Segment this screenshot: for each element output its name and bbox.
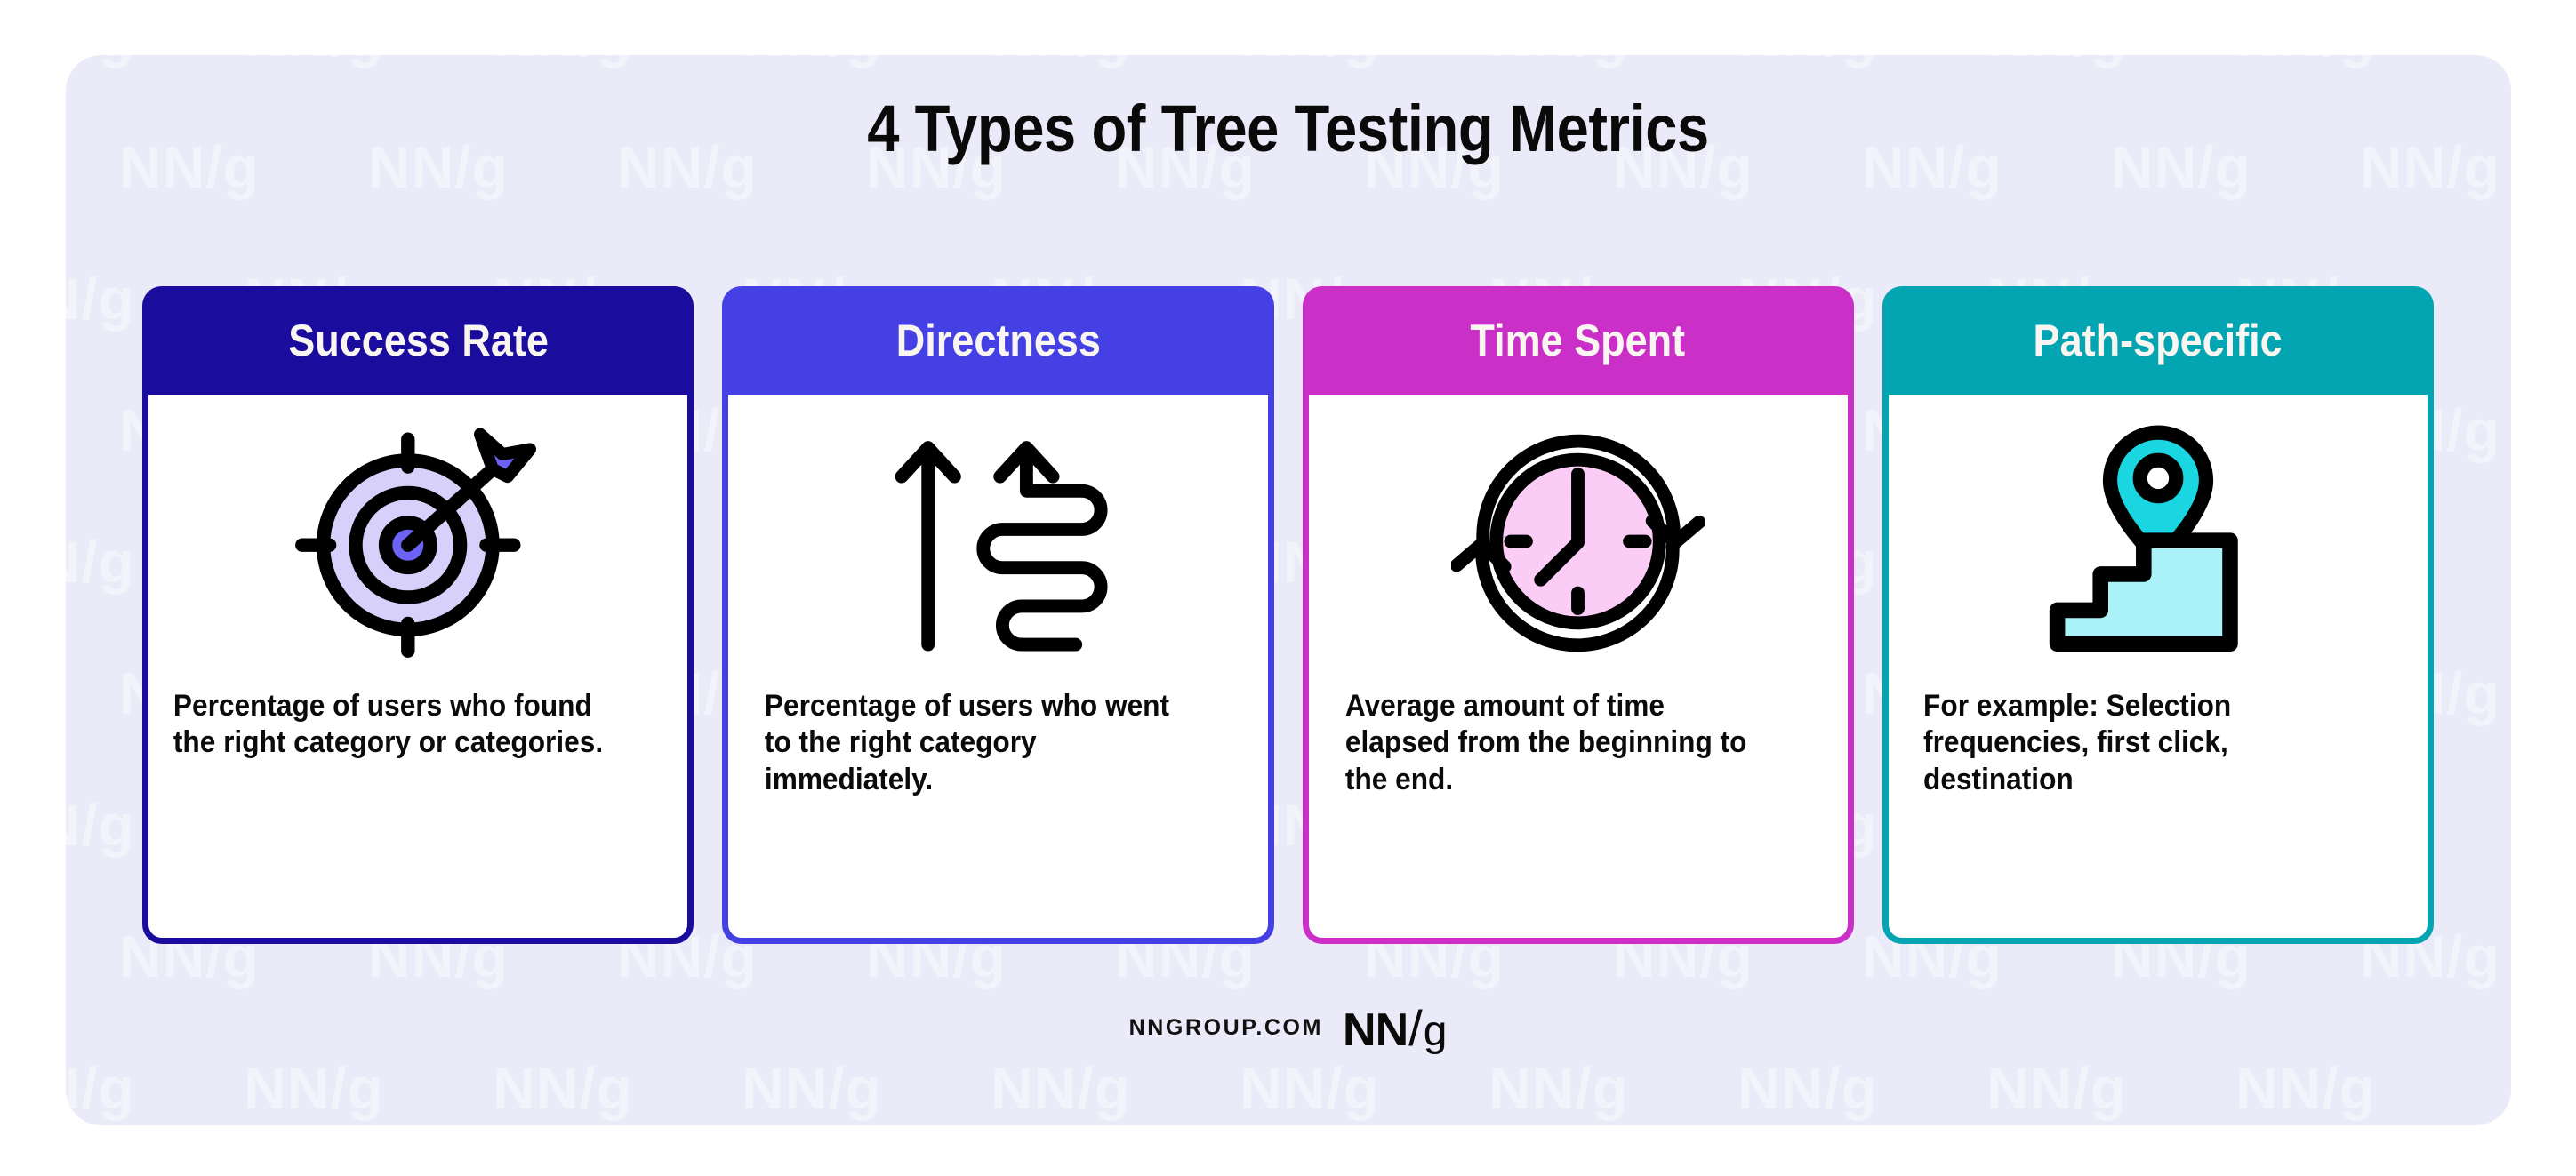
direct-vs-winding-arrows-icon — [878, 421, 1118, 661]
metric-card-success-rate[interactable]: Success Rate — [142, 286, 694, 944]
card-description-wrapper-success-rate: Percentage of users who found the right … — [148, 688, 650, 762]
card-header-success-rate: Success Rate — [142, 286, 694, 395]
watermark-text: NN/g — [1737, 55, 1878, 69]
footer-url-label[interactable]: NNGROUP.COM — [1129, 1015, 1323, 1041]
watermark-text: NN/g — [1986, 55, 2127, 69]
watermark-text: NN/g — [66, 791, 135, 859]
card-header-directness: Directness — [722, 286, 1273, 395]
infographic-canvas: NN/gNN/gNN/gNN/gNN/gNN/gNN/gNN/gNN/gNN/g… — [0, 0, 2576, 1176]
watermark-text: NN/g — [1240, 1054, 1380, 1122]
watermark-text: NN/g — [991, 55, 1131, 69]
target-with-arrow-icon — [293, 417, 542, 666]
watermark-text: NN/g — [1240, 55, 1380, 69]
watermark-text: NN/g — [1986, 1054, 2127, 1122]
card-header-path-specific: Path-specific — [1882, 286, 2434, 395]
watermark-text: NN/g — [2235, 55, 2376, 69]
nng-logo[interactable]: NN/g — [1343, 999, 1447, 1057]
watermark-text: NN/g — [2235, 1054, 2376, 1122]
watermark-text: NN/g — [742, 55, 882, 69]
card-description-success-rate: Percentage of users who found the right … — [148, 688, 650, 762]
card-description-path-specific: For example: Selection frequencies, firs… — [1889, 688, 2390, 798]
icon-container-success-rate — [148, 395, 687, 688]
watermark-text: NN/g — [66, 55, 135, 69]
page-title: 4 Types of Tree Testing Metrics — [155, 91, 2421, 166]
card-title-directness: Directness — [895, 315, 1100, 366]
card-body-directness: Percentage of users who went to the righ… — [728, 395, 1267, 938]
watermark-text: NN/g — [1737, 1054, 1878, 1122]
watermark-text: NN/g — [66, 265, 135, 332]
card-title-time-spent: Time Spent — [1471, 315, 1686, 366]
watermark-text: NN/g — [493, 55, 633, 69]
metric-card-time-spent[interactable]: Time Spent — [1303, 286, 1854, 944]
icon-container-time-spent — [1309, 395, 1848, 688]
card-description-wrapper-time-spent: Average amount of time elapsed from the … — [1309, 688, 1810, 798]
map-pin-on-stairs-icon — [2038, 415, 2278, 668]
watermark-text: NN/g — [991, 1054, 1131, 1122]
metric-card-path-specific[interactable]: Path-specific For example: Selection fre… — [1882, 286, 2434, 944]
watermark-text: NN/g — [1489, 55, 1629, 69]
card-header-time-spent: Time Spent — [1303, 286, 1854, 395]
card-description-wrapper-directness: Percentage of users who went to the righ… — [728, 688, 1230, 798]
watermark-text: NN/g — [1489, 1054, 1629, 1122]
watermark-text: NN/g — [742, 1054, 882, 1122]
card-body-time-spent: Average amount of time elapsed from the … — [1309, 395, 1848, 938]
watermark-text: NN/g — [66, 1054, 135, 1122]
clock-with-rotation-arrows-icon — [1451, 421, 1705, 661]
card-description-time-spent: Average amount of time elapsed from the … — [1309, 688, 1810, 798]
metric-card-directness[interactable]: Directness Percentage of u — [722, 286, 1273, 944]
logo-nn-text: NN — [1343, 1004, 1408, 1057]
icon-container-path-specific — [1889, 395, 2428, 688]
card-body-success-rate: Percentage of users who found the right … — [148, 395, 687, 938]
icon-container-directness — [728, 395, 1267, 688]
watermark-text: NN/g — [493, 1054, 633, 1122]
metrics-card-row: Success Rate — [142, 286, 2434, 944]
watermark-text: NN/g — [244, 55, 384, 69]
card-description-wrapper-path-specific: For example: Selection frequencies, firs… — [1889, 688, 2390, 798]
card-title-success-rate: Success Rate — [288, 315, 549, 366]
logo-slash-text: / — [1408, 999, 1423, 1057]
card-description-directness: Percentage of users who went to the righ… — [728, 688, 1230, 798]
card-title-path-specific: Path-specific — [2034, 315, 2283, 366]
logo-g-text: g — [1424, 1007, 1448, 1056]
footer: NNGROUP.COM NN/g — [0, 999, 2576, 1057]
watermark-text: NN/g — [66, 528, 135, 596]
card-body-path-specific: For example: Selection frequencies, firs… — [1889, 395, 2428, 938]
watermark-text: NN/g — [244, 1054, 384, 1122]
